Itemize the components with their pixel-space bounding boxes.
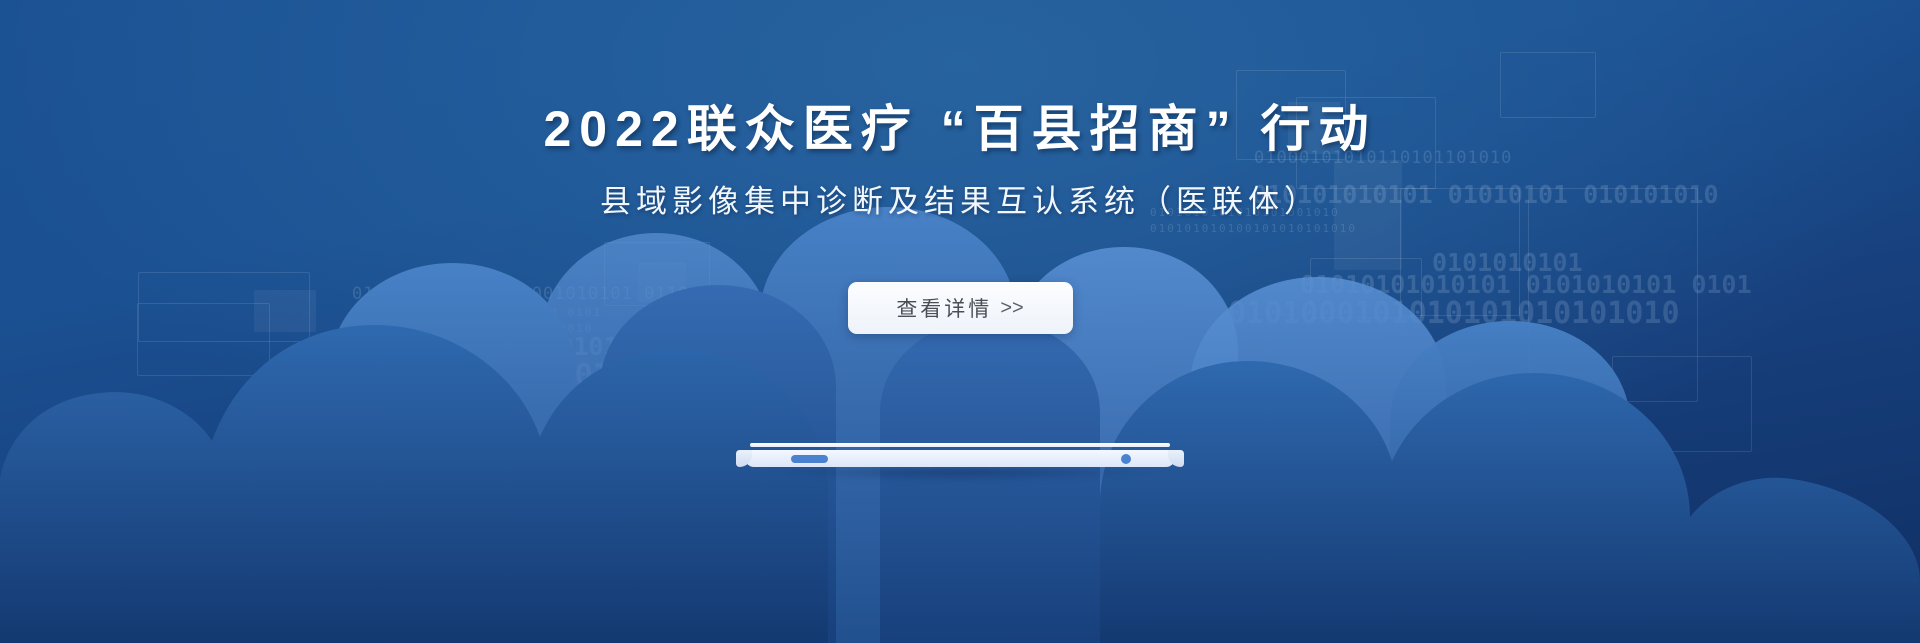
- banner-title: 2022联众医疗 “百县招商” 行动: [543, 103, 1376, 156]
- view-details-label: 查看详情: [896, 293, 992, 323]
- view-details-button[interactable]: 查看详情 >>: [848, 282, 1073, 334]
- banner-subtitle: 县域影像集中诊断及结果互认系统（医联体）: [600, 185, 1320, 219]
- promo-banner: 0101010100010101001010101 0110 0 10000 1…: [0, 0, 1920, 643]
- banner-content: 2022联众医疗 “百县招商” 行动 县域影像集中诊断及结果互认系统（医联体） …: [0, 0, 1920, 643]
- chevron-right-double-icon: >>: [1000, 297, 1023, 320]
